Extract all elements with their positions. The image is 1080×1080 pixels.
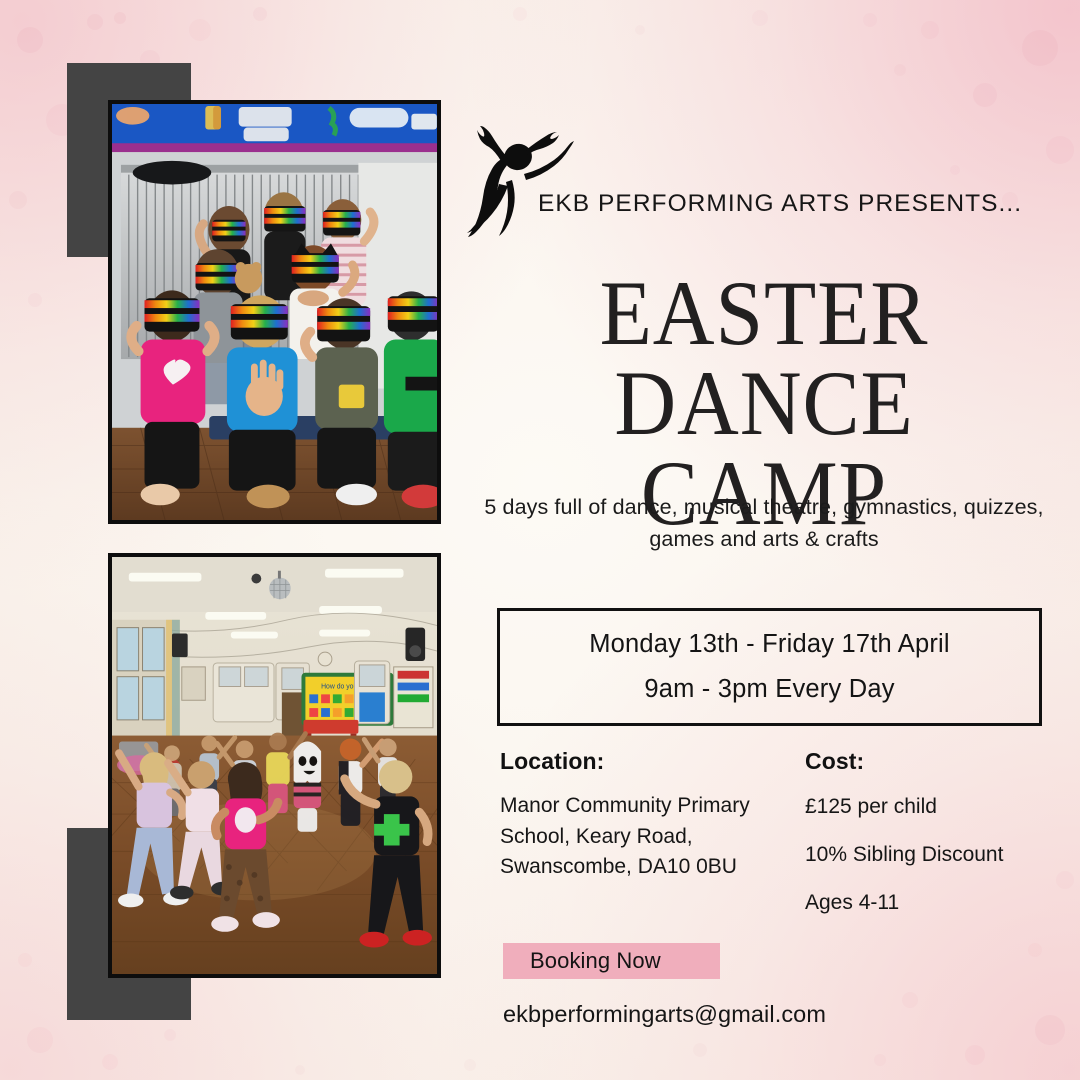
camp-times: 9am - 3pm Every Day (644, 675, 894, 704)
camp-dates: Monday 13th - Friday 17th April (589, 630, 950, 659)
brand-header: EKB PERFORMING ARTS PRESENTS... (462, 112, 1062, 238)
location-address: Manor Community Primary School, Keary Ro… (500, 791, 770, 883)
contact-email[interactable]: ekbperformingarts@gmail.com (503, 1001, 826, 1028)
booking-now-badge[interactable]: Booking Now (503, 943, 720, 979)
cost-ages: Ages 4-11 (805, 891, 1072, 915)
photo-children-rainbow-masks (108, 100, 441, 524)
booking-now-label: Booking Now (530, 948, 661, 974)
cost-discount: 10% Sibling Discount (805, 840, 1072, 871)
brand-presents-text: EKB PERFORMING ARTS PRESENTS... (538, 190, 1022, 218)
cost-price: £125 per child (805, 792, 1072, 823)
poster-content-column: EKB PERFORMING ARTS PRESENTS... EASTER D… (462, 0, 1080, 1080)
location-block: Location: Manor Community Primary School… (500, 748, 770, 883)
location-heading: Location: (500, 748, 770, 775)
title-line-1: EASTER DANCE (483, 268, 1045, 448)
date-time-box: Monday 13th - Friday 17th April 9am - 3p… (497, 608, 1042, 726)
poster-canvas: How do you feel? (0, 0, 1080, 1080)
subtitle-description: 5 days full of dance, musical theatre, g… (462, 492, 1066, 556)
cost-heading: Cost: (805, 748, 1072, 775)
photo-children-dancing-hall: How do you feel? (108, 553, 441, 978)
leaping-dancer-silhouette-icon (466, 112, 584, 238)
cost-block: Cost: £125 per child 10% Sibling Discoun… (802, 748, 1072, 915)
